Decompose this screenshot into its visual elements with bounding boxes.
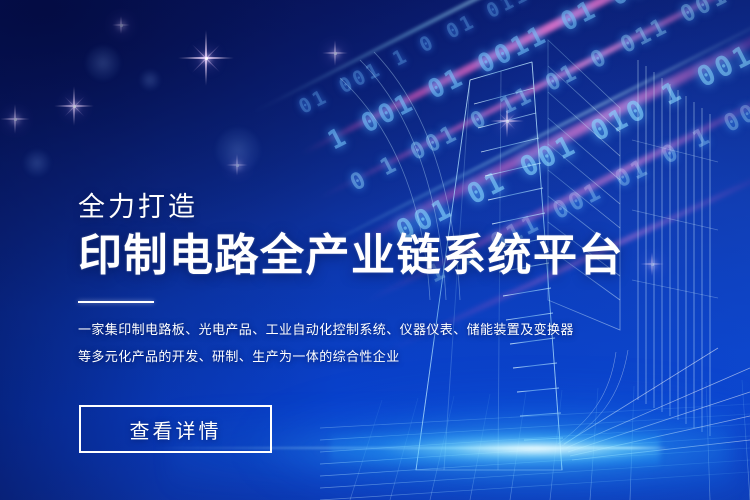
hero-divider <box>78 301 154 303</box>
dust-mote-1 <box>86 46 120 80</box>
view-details-button[interactable]: 查看详情 <box>79 405 272 453</box>
hero-headline: 印制电路全产业链系统平台 <box>78 230 598 282</box>
light-burst-core <box>330 432 660 466</box>
hero-eyebrow: 全力打造 <box>78 192 598 223</box>
dust-mote-3 <box>24 150 50 176</box>
hero-subtitle-line-1: 一家集印制电路板、光电产品、工业自动化控制系统、仪器仪表、储能装置及变换器 <box>78 317 598 344</box>
dust-mote-2 <box>216 128 260 172</box>
hero-subtitle: 一家集印制电路板、光电产品、工业自动化控制系统、仪器仪表、储能装置及变换器 等多… <box>78 317 598 370</box>
hero-banner: 01 001 1 0 01 011 0 1 001 0 1 01 1 001 0… <box>0 0 750 500</box>
dust-mote-4 <box>140 70 160 90</box>
hero-content: 全力打造 印制电路全产业链系统平台 一家集印制电路板、光电产品、工业自动化控制系… <box>78 192 598 370</box>
hero-subtitle-line-2: 等多元化产品的开发、研制、生产为一体的综合性企业 <box>78 344 598 371</box>
